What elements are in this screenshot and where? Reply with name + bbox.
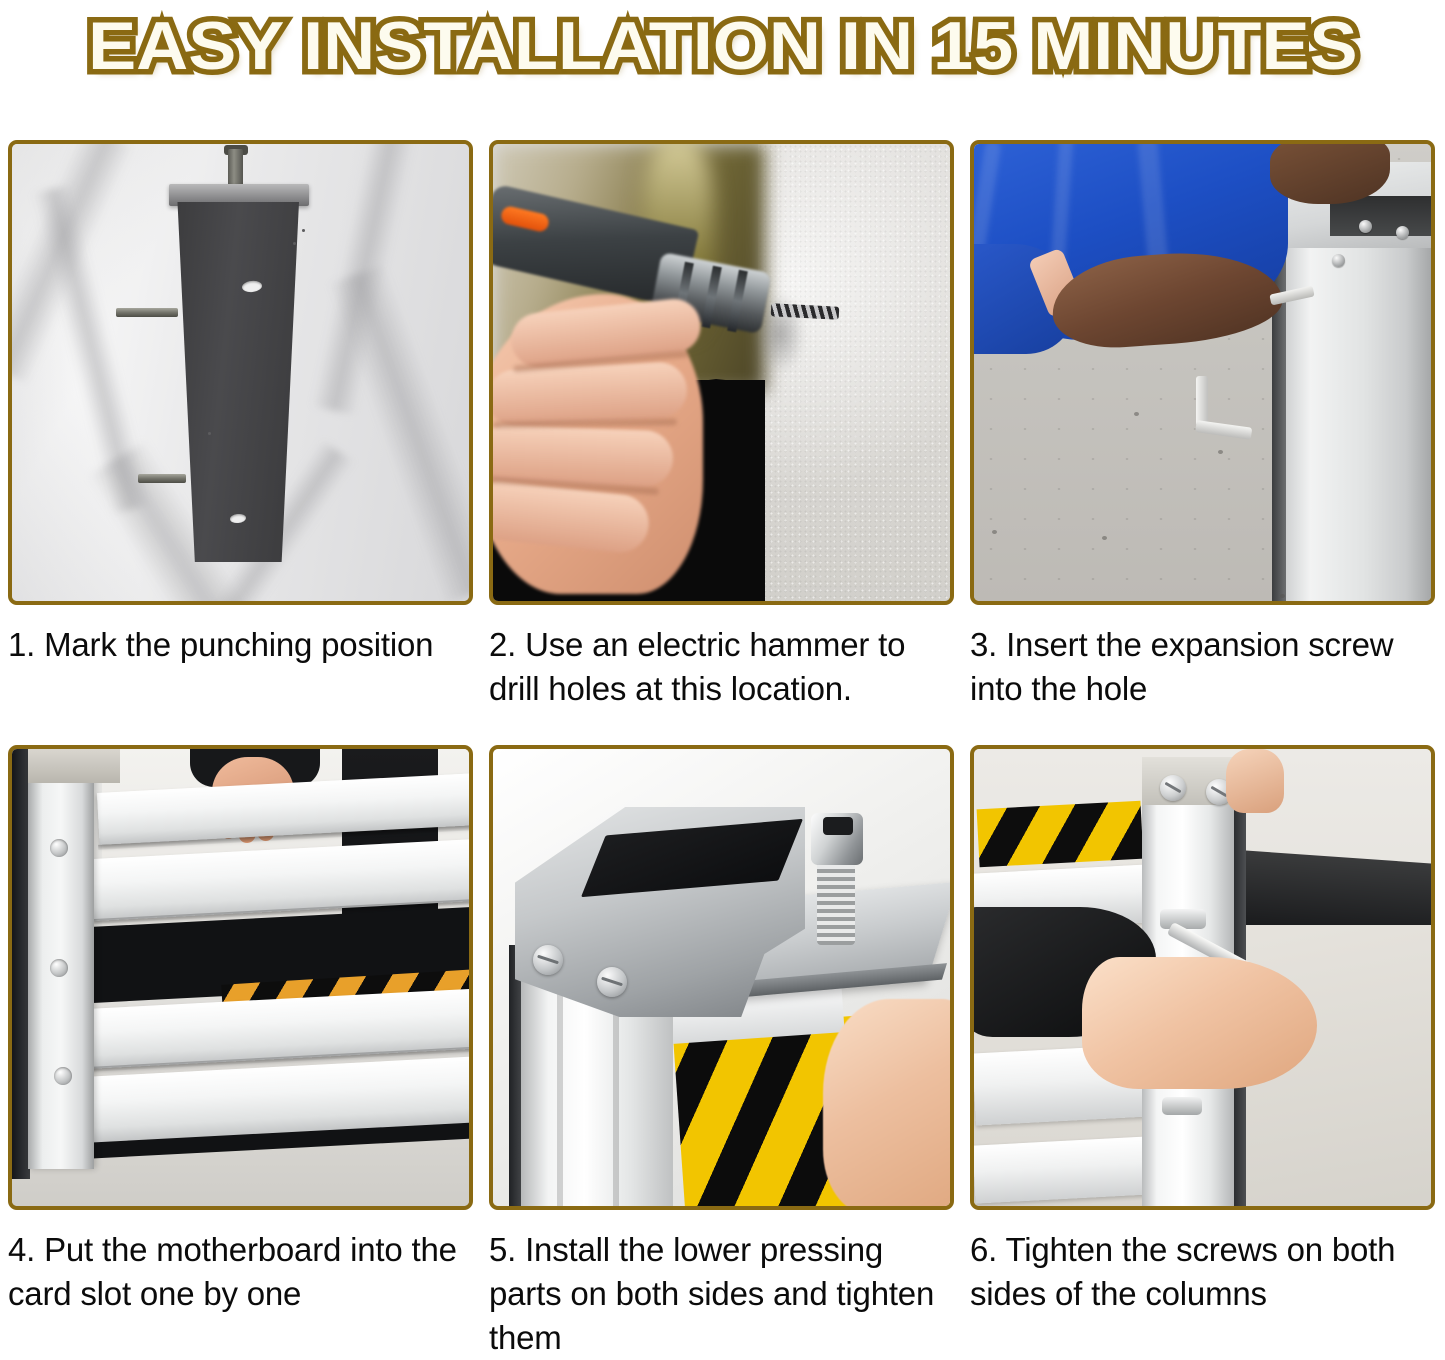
step-4-caption: 4. Put the motherboard into the card slo…: [8, 1228, 478, 1316]
side-bolt: [138, 474, 186, 483]
step-4: 4. Put the motherboard into the card slo…: [8, 745, 473, 1316]
post-hole: [54, 1067, 72, 1085]
post-hole: [50, 839, 68, 857]
step-1-photo: [8, 140, 473, 605]
drilling-wall-scene: [493, 144, 950, 601]
step-3-caption: 3. Insert the expansion screw into the h…: [970, 623, 1440, 711]
tighten-screws-scene: [974, 749, 1431, 1206]
step-2-photo: [489, 140, 954, 605]
mounting-plate-scene: [12, 144, 469, 601]
hazard-stripe-panel: [977, 801, 1144, 868]
step-1: 1. Mark the punching position: [8, 140, 473, 667]
screw: [1396, 226, 1409, 239]
post-top-plate: [28, 749, 120, 783]
motherboard-slot-scene: [12, 749, 469, 1206]
floor-speck: [1102, 536, 1107, 540]
floor-speck: [1134, 412, 1139, 416]
step-4-photo: [8, 745, 473, 1210]
step-3: 3. Insert the expansion screw into the h…: [970, 140, 1435, 711]
steps-grid: 1. Mark the punching position: [0, 92, 1445, 1352]
expansion-screw-scene: [974, 144, 1431, 601]
top-screw: [1160, 775, 1186, 801]
floor-speck: [992, 530, 997, 534]
surface-speck: [208, 432, 211, 435]
installation-infographic: EASY INSTALLATION IN 15 MINUTES: [0, 0, 1445, 1352]
step-1-caption: 1. Mark the punching position: [8, 623, 478, 667]
screw: [1332, 254, 1345, 267]
surface-speck: [302, 229, 305, 232]
side-bolt: [116, 308, 178, 317]
thumb: [1226, 749, 1284, 813]
step-2-caption: 2. Use an electric hammer to drill holes…: [489, 623, 959, 711]
floor-speck: [1280, 594, 1285, 598]
bracket-screw: [533, 945, 563, 975]
step-6: 6. Tighten the screws on both sides of t…: [970, 745, 1435, 1316]
mounting-plate: [175, 202, 299, 562]
step-2: 2. Use an electric hammer to drill holes…: [489, 140, 954, 711]
pressing-bracket-scene: [493, 749, 950, 1206]
step-6-caption: 6. Tighten the screws on both sides of t…: [970, 1228, 1440, 1316]
surface-speck: [293, 242, 296, 245]
screw: [1359, 220, 1372, 233]
bolt-hex-socket: [823, 817, 853, 835]
post-hole: [50, 959, 68, 977]
step-6-photo: [970, 745, 1435, 1210]
hex-key-long-leg: [1196, 376, 1208, 426]
bracket-screw: [597, 967, 627, 997]
bolt-thread: [817, 857, 855, 945]
page-title: EASY INSTALLATION IN 15 MINUTES: [88, 11, 1358, 81]
hand: [1082, 957, 1317, 1089]
step-5: 5. Install the lower pressing parts on b…: [489, 745, 954, 1360]
top-stud: [228, 149, 243, 189]
step-3-photo: [970, 140, 1435, 605]
title-banner: EASY INSTALLATION IN 15 MINUTES: [0, 0, 1445, 92]
hex-key-on-floor: [1196, 376, 1258, 438]
floor-speck: [1218, 450, 1223, 454]
hex-key-short-leg: [1195, 420, 1252, 440]
side-screw: [1162, 1097, 1202, 1115]
step-5-caption: 5. Install the lower pressing parts on b…: [489, 1228, 959, 1360]
barrier-board: [974, 1136, 1151, 1203]
step-5-photo: [489, 745, 954, 1210]
hand: [823, 999, 950, 1206]
